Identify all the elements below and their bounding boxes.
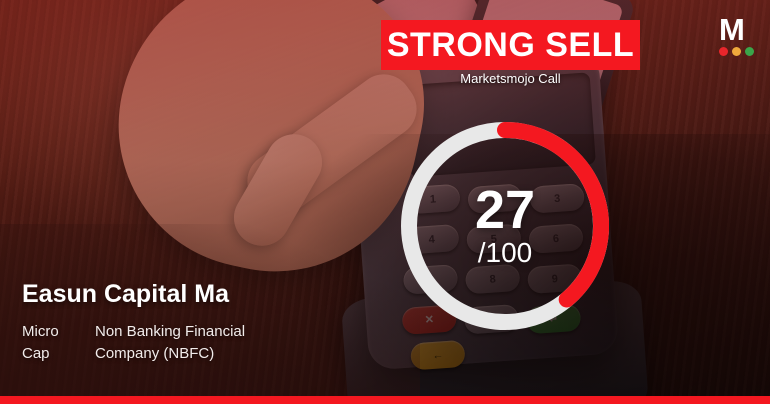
logo-green-dot — [745, 47, 754, 56]
bottom-accent-bar — [0, 396, 770, 404]
stock-call-card: Near Field Communication ↺ 1 2 3 4 5 6 7 — [0, 0, 770, 404]
company-name: Easun Capital Ma — [22, 280, 352, 309]
market-cap-line-2: Cap — [22, 343, 95, 365]
company-info: Easun Capital Ma Micro Cap Non Banking F… — [22, 280, 352, 364]
logo-m-mark: M — [719, 14, 759, 45]
sector-label: Non Banking Financial Company (NBFC) — [95, 321, 345, 365]
call-label: STRONG SELL — [387, 28, 634, 62]
call-caption: Marketsmojo Call — [381, 71, 640, 86]
market-cap-label: Micro Cap — [22, 321, 95, 365]
logo-red-dot — [719, 47, 728, 56]
score-readout: 27 /100 — [401, 122, 609, 330]
score-value: 27 — [475, 185, 535, 236]
marketsmojo-logo: M — [719, 14, 759, 54]
score-gauge: 27 /100 — [401, 122, 609, 330]
market-cap-line-1: Micro — [22, 321, 95, 343]
company-meta: Micro Cap Non Banking Financial Company … — [22, 321, 352, 365]
score-total: /100 — [478, 238, 533, 269]
logo-dots — [719, 47, 759, 56]
logo-orange-dot — [732, 47, 741, 56]
sector-line-2: Company (NBFC) — [95, 343, 345, 365]
call-banner: STRONG SELL — [381, 20, 640, 70]
sector-line-1: Non Banking Financial — [95, 321, 345, 343]
